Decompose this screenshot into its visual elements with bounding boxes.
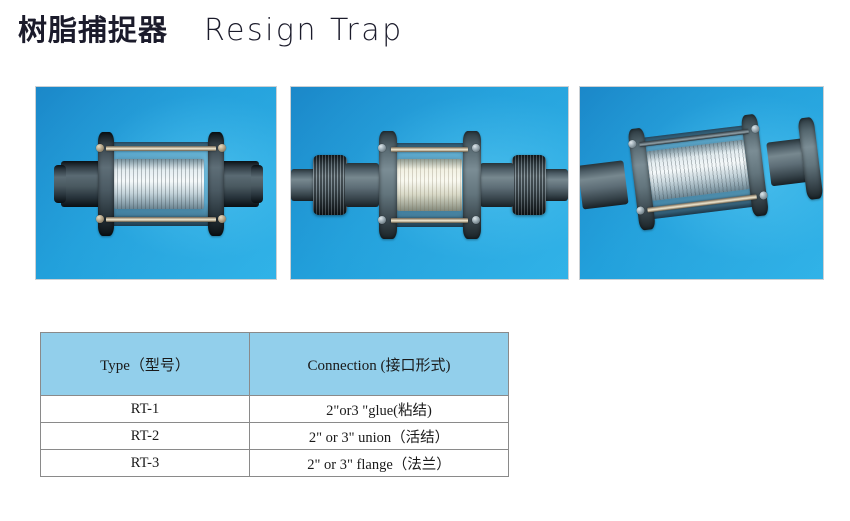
column-header-type: Type（型号） xyxy=(41,333,250,396)
specification-table: Type（型号） Connection (接口形式) RT-1 2"or3 "g… xyxy=(40,332,509,477)
top-tie-rod xyxy=(106,146,216,151)
page-title-english: Resign Trap xyxy=(204,16,404,46)
page-title: 树脂捕捉器 Resign Trap xyxy=(18,16,404,46)
filter-cartridge xyxy=(114,159,204,209)
bolt-bottom-left xyxy=(96,215,104,223)
product-photo-3 xyxy=(580,87,823,279)
bolt-top-left xyxy=(378,144,386,152)
bottom-tie-rod xyxy=(391,218,468,223)
right-pipe-end xyxy=(251,165,263,203)
cell-type: RT-1 xyxy=(41,396,250,423)
left-outer-pipe xyxy=(580,160,629,209)
page-title-chinese: 树脂捕捉器 xyxy=(18,16,168,45)
left-pipe-stub xyxy=(345,163,379,207)
cell-connection: 2" or 3" flange（法兰） xyxy=(250,450,509,477)
table-row: RT-2 2" or 3" union（活结） xyxy=(41,423,509,450)
bottom-tie-rod xyxy=(106,217,216,222)
right-union-nut xyxy=(512,155,546,215)
cell-type: RT-3 xyxy=(41,450,250,477)
bolt-top-left xyxy=(96,144,104,152)
filter-cartridge xyxy=(397,159,462,211)
left-pipe-end xyxy=(54,165,66,203)
table-row: RT-1 2"or3 "glue(粘结) xyxy=(41,396,509,423)
table-header-row: Type（型号） Connection (接口形式) xyxy=(41,333,509,396)
left-union-nut xyxy=(313,155,347,215)
product-photo-1 xyxy=(36,87,276,279)
cell-connection: 2"or3 "glue(粘结) xyxy=(250,396,509,423)
bolt-top-right xyxy=(218,144,226,152)
bolt-bottom-left xyxy=(378,216,386,224)
product-photo-2 xyxy=(291,87,568,279)
right-pipe-stub xyxy=(480,163,514,207)
bolt-bottom-right xyxy=(218,215,226,223)
cell-connection: 2" or 3" union（活结） xyxy=(250,423,509,450)
cell-type: RT-2 xyxy=(41,423,250,450)
column-header-connection: Connection (接口形式) xyxy=(250,333,509,396)
table-row: RT-3 2" or 3" flange（法兰） xyxy=(41,450,509,477)
bolt-top-right xyxy=(472,144,480,152)
top-tie-rod xyxy=(391,147,468,152)
bolt-bottom-right xyxy=(472,216,480,224)
